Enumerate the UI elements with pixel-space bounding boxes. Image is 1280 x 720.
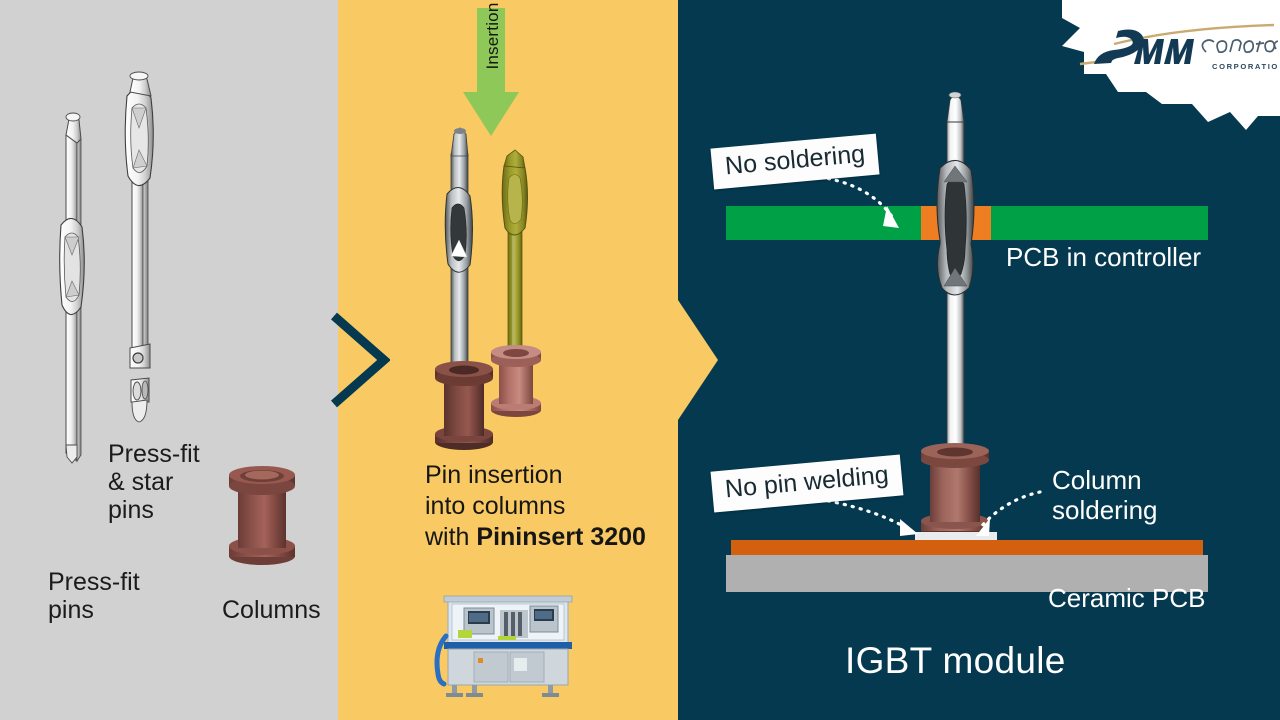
label-pcb-in-controller: PCB in controller (1006, 243, 1201, 273)
product-name: Pininsert 3200 (476, 523, 646, 551)
label-line: soldering (1052, 496, 1192, 526)
pininsert-3200-machine-icon (430, 592, 590, 702)
column-body (930, 459, 980, 522)
sm-contact-logo: CORPORATION (1078, 22, 1278, 78)
label-column-soldering: Column soldering (1052, 466, 1192, 526)
label-line: Press-fit (108, 440, 258, 468)
label-press-fit-star-pins: Press-fit & star pins (108, 440, 258, 524)
caption-line-3: with Pininsert 3200 (425, 522, 675, 553)
label-line: & star (108, 468, 258, 496)
insertion-label: Insertion (483, 0, 511, 84)
label-ceramic-pcb: Ceramic PCB (1048, 584, 1205, 614)
label-line: pins (48, 596, 198, 624)
logo-subtitle: CORPORATION (1212, 62, 1278, 71)
caption-line-1: Pin insertion (425, 460, 675, 491)
label-line: pins (108, 496, 258, 524)
label-line: Press-fit (48, 568, 198, 596)
pin-in-column-olive (482, 148, 552, 428)
press-fit-and-star-pin (110, 52, 172, 424)
insertion-caption: Pin insertion into columns with Pininser… (425, 460, 675, 552)
label-line: Column (1052, 466, 1192, 496)
page-title: IGBT module (845, 640, 1066, 682)
chevron-right-icon-1 (328, 312, 390, 408)
caption-line-2: into columns (425, 491, 675, 522)
infographic-root: Press-fit & star pins Press-fit pins Col… (0, 0, 1280, 720)
leader-no-pin-welding (812, 498, 910, 530)
caption-prefix: with (425, 523, 476, 551)
label-press-fit-pins: Press-fit pins (48, 568, 198, 624)
copper-layer (731, 540, 1203, 555)
label-columns: Columns (222, 596, 382, 624)
press-fit-pin (48, 105, 102, 465)
